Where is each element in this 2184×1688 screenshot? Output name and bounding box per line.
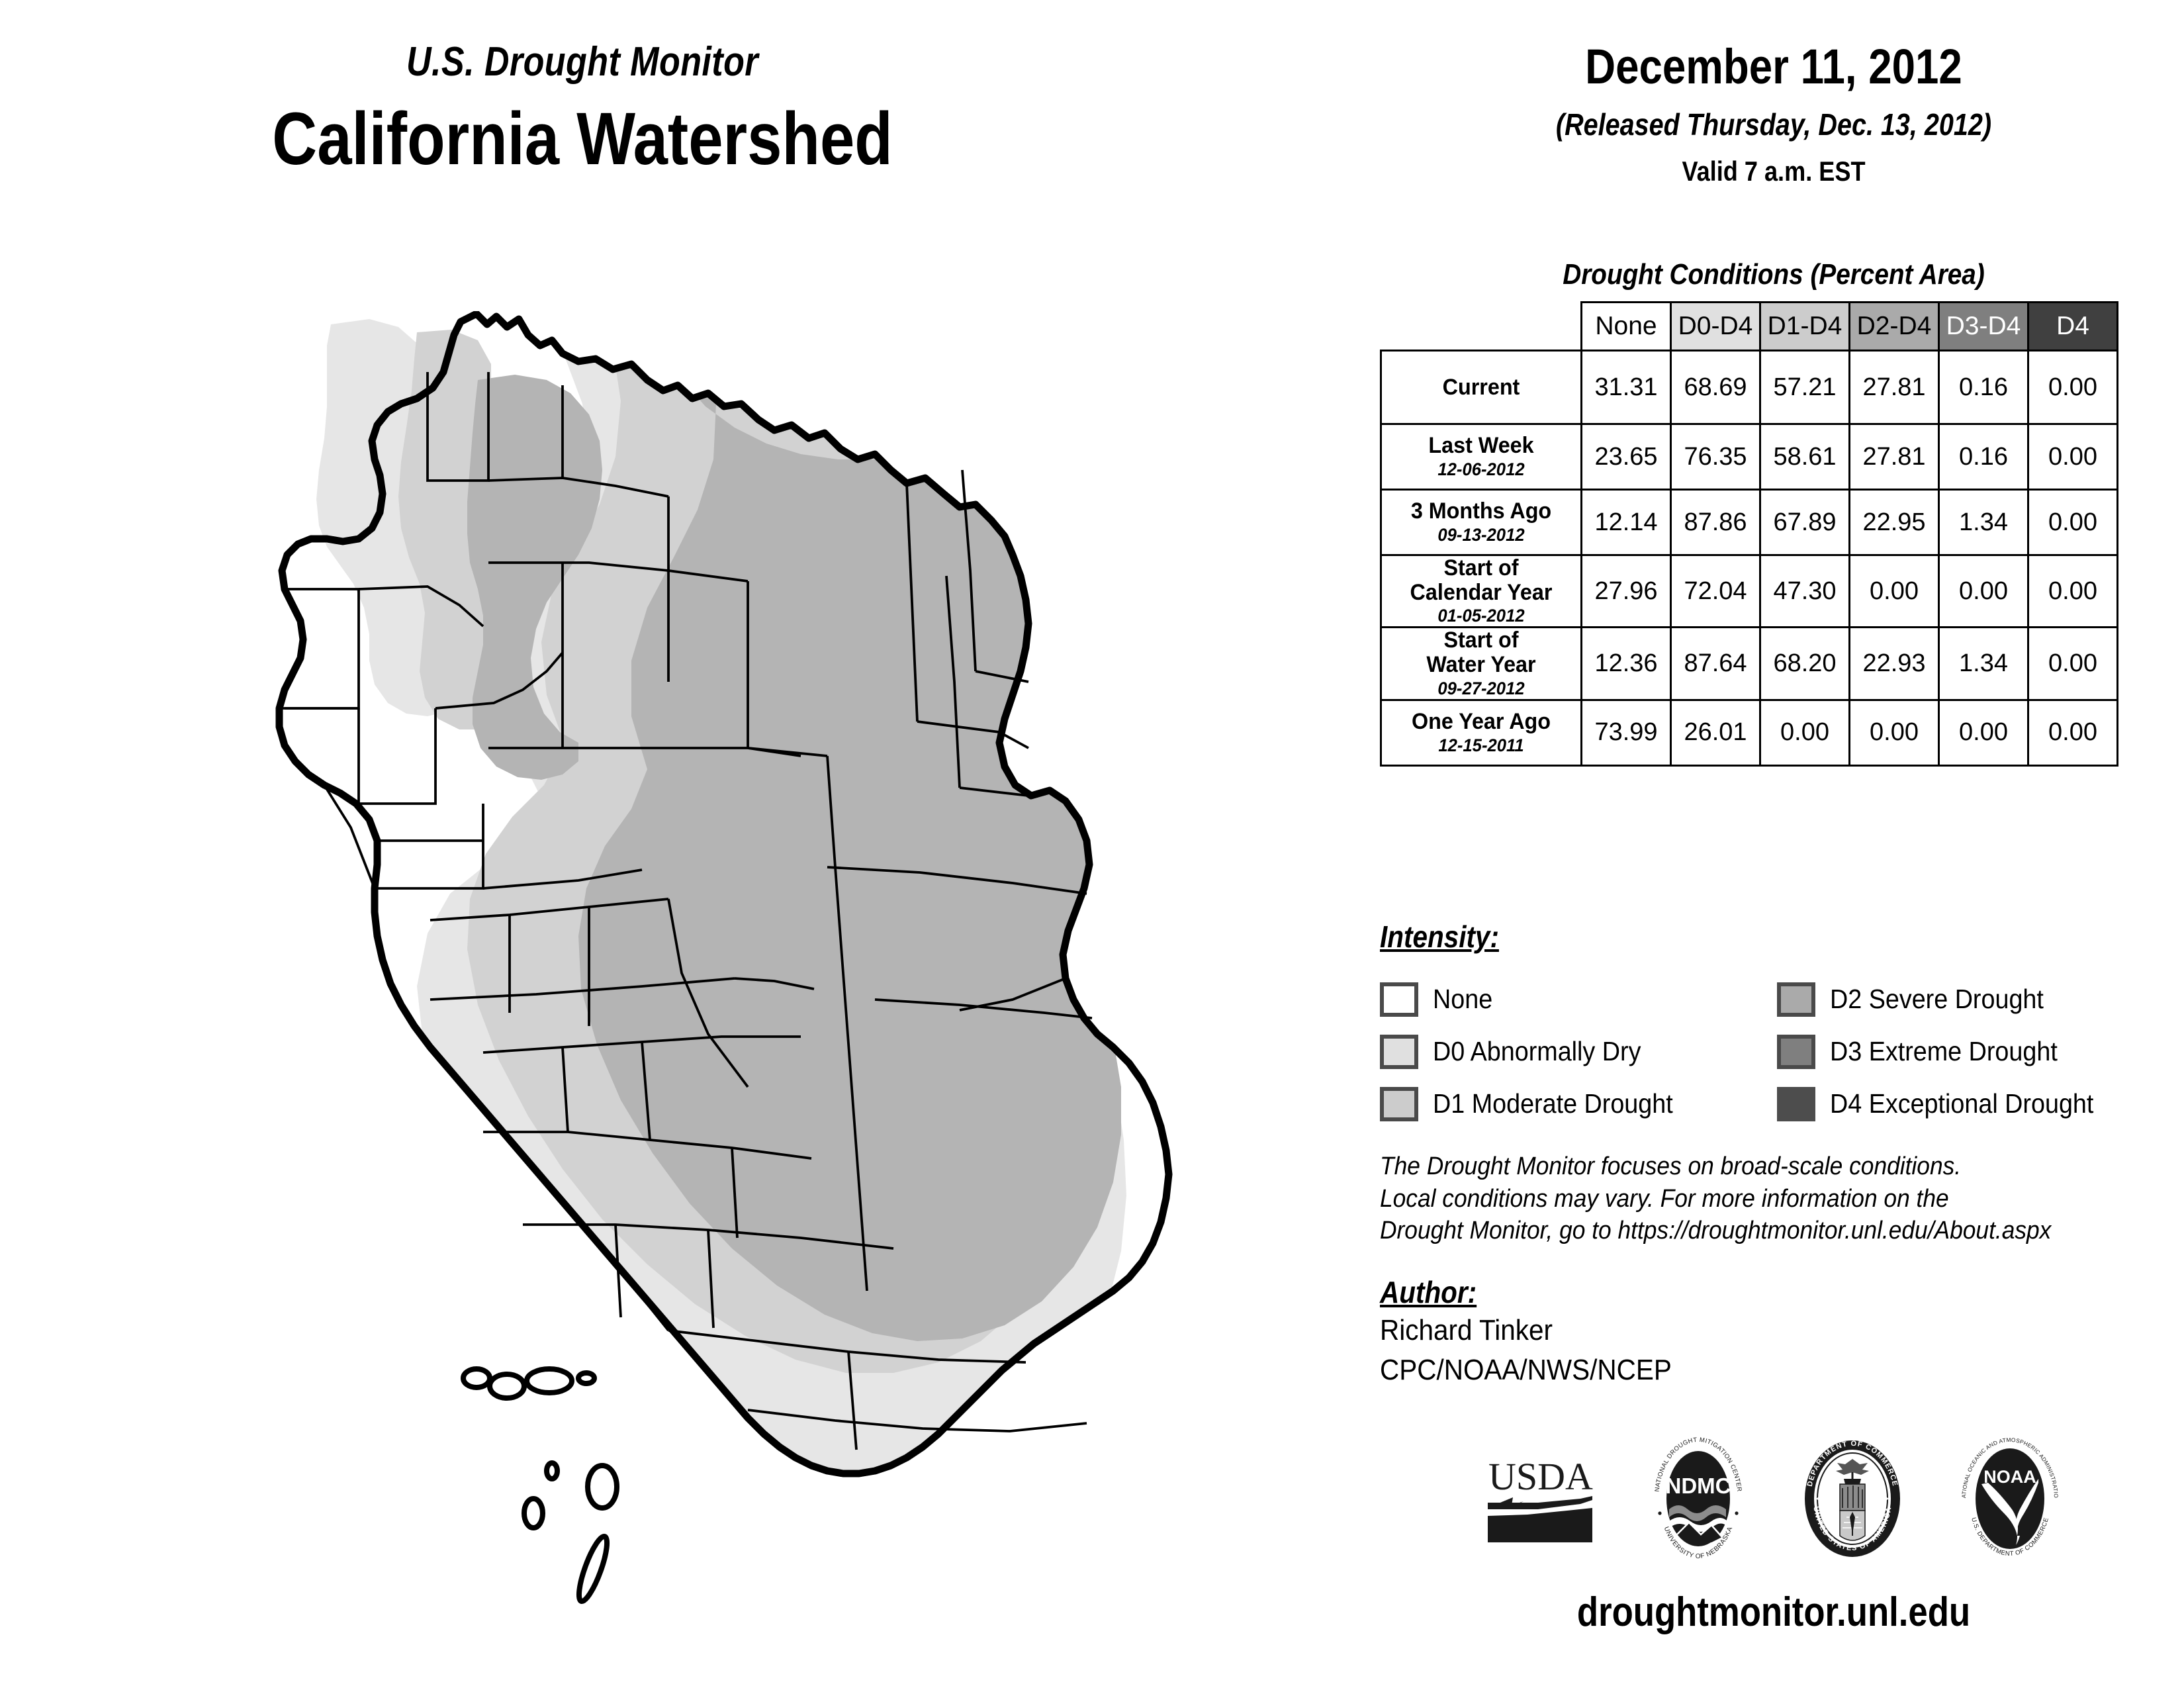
row-label-last-week: Last Week 12-06-2012 <box>1381 424 1582 490</box>
legend-label: D0 Abnormally Dry <box>1433 1036 1641 1067</box>
cell-d4: 0.00 <box>2028 351 2118 424</box>
cell-d2-d4: 22.93 <box>1850 628 1939 700</box>
noaa-logo-text: NOAA <box>1983 1467 2036 1487</box>
title-block: U.S. Drought Monitor California Watershe… <box>0 38 1165 181</box>
legend-item-d3: D3 Extreme Drought <box>1777 1035 2174 1069</box>
ndmc-logo-text: NDMC <box>1666 1474 1731 1498</box>
row-name: One Year Ago <box>1387 710 1576 734</box>
disclaimer-text: The Drought Monitor focuses on broad-sca… <box>1380 1150 2124 1247</box>
usda-logo-text: USDA <box>1488 1455 1593 1498</box>
doc-logo: DEPARTMENT OF COMMERCE UNITED STATES OF … <box>1796 1435 1909 1564</box>
cell-d2-d4: 0.00 <box>1850 555 1939 628</box>
disclaimer-line-3: Drought Monitor, go to https://droughtmo… <box>1380 1215 2124 1247</box>
cell-d1-d4: 68.20 <box>1760 628 1850 700</box>
agency-logos: USDA NDMC <box>1363 1433 2184 1566</box>
cell-d1-d4: 57.21 <box>1760 351 1850 424</box>
row-date: 09-13-2012 <box>1387 525 1576 545</box>
cell-d2-d4: 22.95 <box>1850 490 1939 555</box>
info-panel: December 11, 2012 (Released Thursday, De… <box>1363 0 2184 1688</box>
legend-label: D4 Exceptional Drought <box>1830 1088 2093 1119</box>
row-name: Current <box>1387 375 1576 400</box>
row-name: Last Week <box>1387 434 1576 458</box>
cell-none: 23.65 <box>1582 424 1671 490</box>
table-row: Start of Water Year 09-27-2012 12.36 87.… <box>1381 628 2118 700</box>
cell-d0-d4: 68.69 <box>1671 351 1760 424</box>
intensity-legend: None D2 Severe Drought D0 Abnormally Dry… <box>1380 973 2181 1130</box>
cell-d1-d4: 67.89 <box>1760 490 1850 555</box>
cell-d0-d4: 87.64 <box>1671 628 1760 700</box>
column-header-none: None <box>1582 303 1671 351</box>
row-name: 3 Months Ago <box>1387 499 1576 524</box>
table-row: Current 31.31 68.69 57.21 27.81 0.16 0.0… <box>1381 351 2118 424</box>
disclaimer-line-1: The Drought Monitor focuses on broad-sca… <box>1380 1150 2124 1183</box>
drought-conditions-table: None D0-D4 D1-D4 D2-D4 D3-D4 D4 Current … <box>1380 301 2118 767</box>
row-date: 01-05-2012 <box>1387 606 1576 626</box>
cell-none: 12.36 <box>1582 628 1671 700</box>
cell-d0-d4: 72.04 <box>1671 555 1760 628</box>
legend-label: D3 Extreme Drought <box>1830 1036 2058 1067</box>
disclaimer-line-2: Local conditions may vary. For more info… <box>1380 1183 2124 1215</box>
cell-d1-d4: 0.00 <box>1760 700 1850 765</box>
row-label-one-year-ago: One Year Ago 12-15-2011 <box>1381 700 1582 765</box>
cell-d0-d4: 87.86 <box>1671 490 1760 555</box>
page-subtitle: U.S. Drought Monitor <box>93 38 1071 85</box>
cell-d3-d4: 0.16 <box>1939 351 2028 424</box>
legend-item-d4: D4 Exceptional Drought <box>1777 1087 2174 1121</box>
table-row: Start of Calendar Year 01-05-2012 27.96 … <box>1381 555 2118 628</box>
report-date: December 11, 2012 <box>1421 38 2126 95</box>
drought-monitor-page: U.S. Drought Monitor California Watershe… <box>0 0 2184 1688</box>
legend-row: D1 Moderate Drought D4 Exceptional Droug… <box>1380 1078 2181 1130</box>
cell-d0-d4: 26.01 <box>1671 700 1760 765</box>
cell-none: 31.31 <box>1582 351 1671 424</box>
cell-d2-d4: 27.81 <box>1850 424 1939 490</box>
cell-d4: 0.00 <box>2028 555 2118 628</box>
legend-row: D0 Abnormally Dry D3 Extreme Drought <box>1380 1025 2181 1078</box>
cell-d1-d4: 58.61 <box>1760 424 1850 490</box>
cell-d4: 0.00 <box>2028 700 2118 765</box>
table-caption: Drought Conditions (Percent Area) <box>1412 258 2134 291</box>
cell-d4: 0.00 <box>2028 490 2118 555</box>
cell-d3-d4: 0.00 <box>1939 700 2028 765</box>
page-title: California Watershed <box>93 96 1071 181</box>
noaa-logo: NOAA NATIONAL OCEANIC AND ATMOSPHERIC AD… <box>1954 1435 2066 1564</box>
column-header-d3-d4: D3-D4 <box>1939 303 2028 351</box>
cell-d4: 0.00 <box>2028 424 2118 490</box>
table-row: 3 Months Ago 09-13-2012 12.14 87.86 67.8… <box>1381 490 2118 555</box>
cell-d4: 0.00 <box>2028 628 2118 700</box>
cell-none: 73.99 <box>1582 700 1671 765</box>
legend-row: None D2 Severe Drought <box>1380 973 2181 1025</box>
legend-item-d0: D0 Abnormally Dry <box>1380 1035 1777 1069</box>
row-date: 12-06-2012 <box>1387 459 1576 480</box>
cell-none: 27.96 <box>1582 555 1671 628</box>
cell-d3-d4: 1.34 <box>1939 628 2028 700</box>
legend-label: D1 Moderate Drought <box>1433 1088 1673 1119</box>
author-organization: CPC/NOAA/NWS/NCEP <box>1380 1354 1672 1387</box>
cell-none: 12.14 <box>1582 490 1671 555</box>
column-header-d2-d4: D2-D4 <box>1850 303 1939 351</box>
intensity-heading: Intensity: <box>1380 919 1499 955</box>
table-row: Last Week 12-06-2012 23.65 76.35 58.61 2… <box>1381 424 2118 490</box>
cell-d2-d4: 27.81 <box>1850 351 1939 424</box>
swatch-none-icon <box>1380 982 1418 1017</box>
cell-d2-d4: 0.00 <box>1850 700 1939 765</box>
legend-label: D2 Severe Drought <box>1830 984 2044 1015</box>
row-label-current: Current <box>1381 351 1582 424</box>
cell-d3-d4: 0.16 <box>1939 424 2028 490</box>
map-panel: U.S. Drought Monitor California Watershe… <box>0 0 1363 1688</box>
column-header-d0-d4: D0-D4 <box>1671 303 1760 351</box>
release-date: (Released Thursday, Dec. 13, 2012) <box>1421 107 2126 142</box>
ndmc-logo: NDMC NATIONAL DROUGHT MITIGATION CENTER … <box>1645 1435 1751 1564</box>
row-name: Start of Water Year <box>1387 628 1576 677</box>
author-heading: Author: <box>1380 1274 1477 1310</box>
usda-logo: USDA <box>1481 1448 1600 1551</box>
valid-time: Valid 7 a.m. EST <box>1421 156 2126 187</box>
legend-item-d2: D2 Severe Drought <box>1777 982 2174 1017</box>
cell-d1-d4: 47.30 <box>1760 555 1850 628</box>
california-watershed-map <box>86 311 1277 1628</box>
swatch-d1-icon <box>1380 1087 1418 1121</box>
date-block: December 11, 2012 (Released Thursday, De… <box>1363 38 2184 187</box>
legend-label: None <box>1433 984 1492 1015</box>
cell-d3-d4: 0.00 <box>1939 555 2028 628</box>
cell-d3-d4: 1.34 <box>1939 490 2028 555</box>
author-name: Richard Tinker <box>1380 1314 1553 1347</box>
column-header-d4: D4 <box>2028 303 2118 351</box>
table-header-row: None D0-D4 D1-D4 D2-D4 D3-D4 D4 <box>1381 303 2118 351</box>
column-header-d1-d4: D1-D4 <box>1760 303 1850 351</box>
row-label-start-of-calendar-year: Start of Calendar Year 01-05-2012 <box>1381 555 1582 628</box>
row-date: 12-15-2011 <box>1387 735 1576 756</box>
swatch-d3-icon <box>1777 1035 1815 1069</box>
table-row: One Year Ago 12-15-2011 73.99 26.01 0.00… <box>1381 700 2118 765</box>
swatch-d2-icon <box>1777 982 1815 1017</box>
swatch-d0-icon <box>1380 1035 1418 1069</box>
swatch-d4-icon <box>1777 1087 1815 1121</box>
legend-item-none: None <box>1380 982 1777 1017</box>
row-name: Start of Calendar Year <box>1387 556 1576 604</box>
header-spacer <box>1381 303 1582 351</box>
row-label-start-of-water-year: Start of Water Year 09-27-2012 <box>1381 628 1582 700</box>
footer-url: droughtmonitor.unl.edu <box>1425 1589 2122 1636</box>
row-date: 09-27-2012 <box>1387 679 1576 699</box>
map-svg <box>86 311 1277 1628</box>
cell-d0-d4: 76.35 <box>1671 424 1760 490</box>
row-label-3-months-ago: 3 Months Ago 09-13-2012 <box>1381 490 1582 555</box>
legend-item-d1: D1 Moderate Drought <box>1380 1087 1777 1121</box>
